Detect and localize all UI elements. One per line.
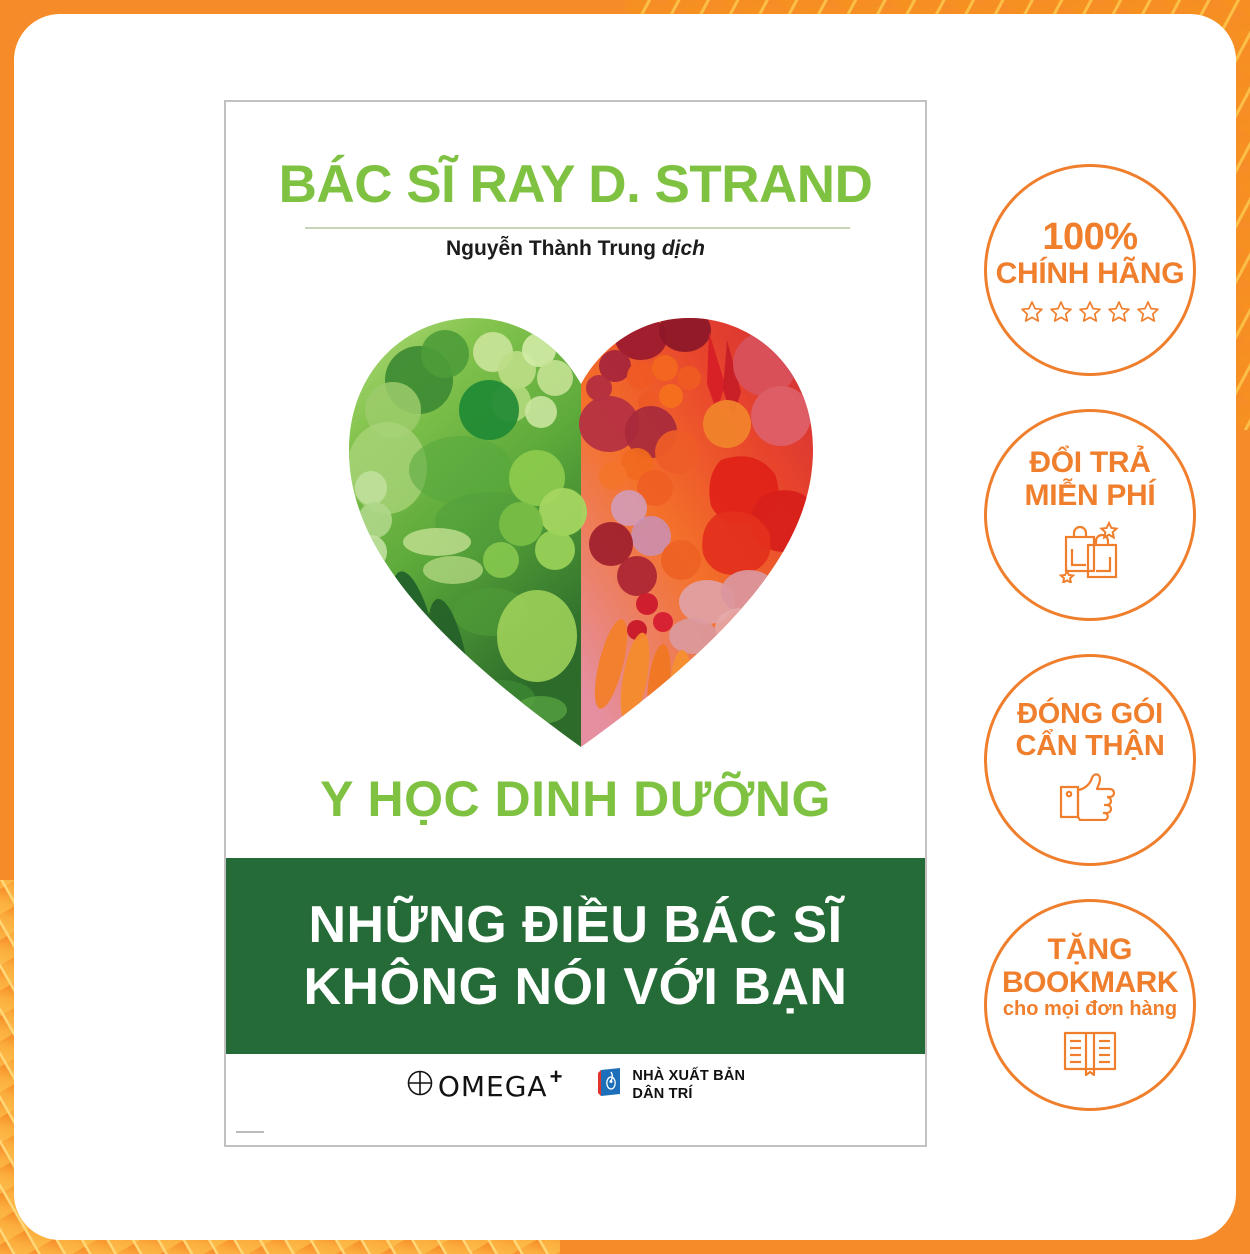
- translator-name: Nguyễn Thành Trung: [446, 237, 662, 260]
- dan-tri-line-2: DÂN TRÍ: [632, 1086, 745, 1103]
- dan-tri-line-1: NHÀ XUẤT BẢN: [632, 1068, 745, 1085]
- omega-plus-symbol: +: [550, 1066, 563, 1088]
- badge-free-return-line-2: MIỄN PHÍ: [1025, 480, 1156, 512]
- shopping-bags-icon: [1054, 519, 1126, 583]
- thumbs-up-icon: [1057, 769, 1123, 821]
- badge-careful-packing[interactable]: ĐÓNG GÓI CẨN THẬN: [984, 654, 1196, 866]
- dan-tri-name: NHÀ XUẤT BẢN DÂN TRÍ: [632, 1068, 745, 1102]
- omega-plus-logo: OMEGA +: [406, 1069, 565, 1102]
- badge-careful-packing-line-2: CẨN THẬN: [1015, 731, 1164, 762]
- book-subtitle-band: NHỮNG ĐIỀU BÁC SĨ KHÔNG NÓI VỚI BẠN: [226, 858, 925, 1054]
- trust-badges: 100% CHÍNH HÃNG ĐỔI TRẢ MIỄN PHÍ: [984, 164, 1196, 1144]
- book-author: BÁC SĨ RAY D. STRAND: [226, 158, 925, 211]
- translator-role: dịch: [662, 237, 705, 260]
- five-stars-icon: [1020, 300, 1160, 323]
- book-translator: Nguyễn Thành Trung dịch: [226, 238, 925, 259]
- book-subtitle-line-2: KHÔNG NÓI VỚI BẠN: [304, 959, 848, 1015]
- badge-free-return-line-1: ĐỔI TRẢ: [1029, 447, 1150, 479]
- author-divider: [305, 227, 850, 229]
- badge-free-bookmark-line-2: BOOKMARK: [1002, 967, 1178, 999]
- book-title-primary: Y HỌC DINH DƯỠNG: [226, 774, 925, 824]
- promotional-product-banner: BÁC SĨ RAY D. STRAND Nguyễn Thành Trung …: [0, 0, 1250, 1254]
- book-cover[interactable]: BÁC SĨ RAY D. STRAND Nguyễn Thành Trung …: [224, 100, 927, 1147]
- book-icon: [598, 1068, 624, 1103]
- badge-free-bookmark-line-3: cho mọi đơn hàng: [1003, 999, 1177, 1021]
- badge-free-return[interactable]: ĐỔI TRẢ MIỄN PHÍ: [984, 409, 1196, 621]
- cover-spine-tick: [236, 1131, 264, 1133]
- dan-tri-publisher-logo: NHÀ XUẤT BẢN DÂN TRÍ: [598, 1068, 745, 1103]
- omega-wordmark: OMEGA: [438, 1073, 548, 1101]
- badge-free-bookmark-line-1: TẶNG: [1048, 934, 1133, 966]
- badge-authentic-line-1: 100%: [1042, 217, 1137, 258]
- publisher-logos: OMEGA + NHÀ XUẤT BẢN: [226, 1068, 925, 1103]
- open-book-icon: [1060, 1028, 1120, 1076]
- cover-heart-image: [341, 292, 821, 762]
- circle-cross-icon: [406, 1069, 434, 1102]
- book-subtitle-line-1: NHỮNG ĐIỀU BÁC SĨ: [308, 897, 842, 953]
- badge-authentic-line-2: CHÍNH HÃNG: [996, 258, 1185, 290]
- badge-authentic[interactable]: 100% CHÍNH HÃNG: [984, 164, 1196, 376]
- badge-free-bookmark[interactable]: TẶNG BOOKMARK cho mọi đơn hàng: [984, 899, 1196, 1111]
- badge-careful-packing-line-1: ĐÓNG GÓI: [1017, 699, 1163, 730]
